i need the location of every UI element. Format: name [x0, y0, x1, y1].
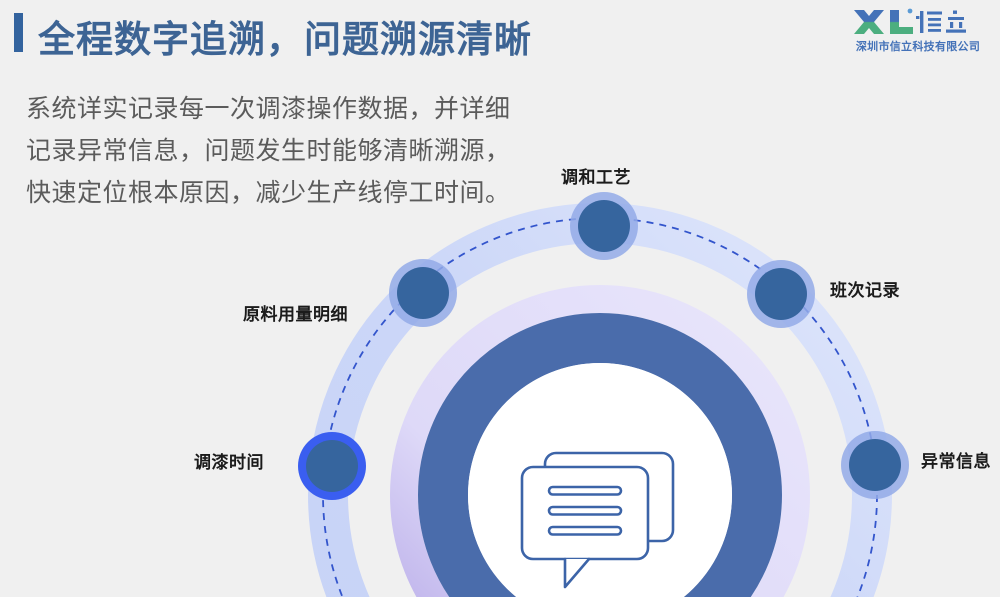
node-core: [306, 440, 358, 492]
node-yuanliao-yongliang-mingxi[interactable]: [389, 259, 457, 327]
node-banci-jilu[interactable]: [747, 260, 815, 328]
node-label-tiaoqi-shijian: 调漆时间: [194, 448, 264, 473]
company-logo: 深圳市信立科技有限公司: [852, 7, 984, 59]
logo-xl-mark: [852, 7, 984, 37]
node-label-banci-jilu: 班次记录: [830, 276, 900, 301]
node-label-yichang-xinxi: 异常信息: [921, 447, 991, 472]
slide-canvas: 全程数字追溯，问题溯源清晰: [0, 0, 1000, 597]
page-title: 全程数字追溯，问题溯源清晰: [38, 9, 532, 63]
node-label-yuanliao-yongliang-mingxi: 原料用量明细: [243, 300, 348, 325]
node-core: [397, 267, 449, 319]
node-tiaoqi-shijian[interactable]: [298, 432, 366, 500]
title-accent-bar: [14, 13, 23, 52]
node-label-tiaohe-gongyi: 调和工艺: [561, 163, 631, 188]
node-core: [578, 200, 630, 252]
node-tiaohe-gongyi[interactable]: [570, 192, 638, 260]
node-yichang-xinxi[interactable]: [841, 431, 909, 499]
logo-company-name: 深圳市信立科技有限公司: [852, 38, 984, 54]
node-core: [849, 439, 901, 491]
node-core: [755, 268, 807, 320]
